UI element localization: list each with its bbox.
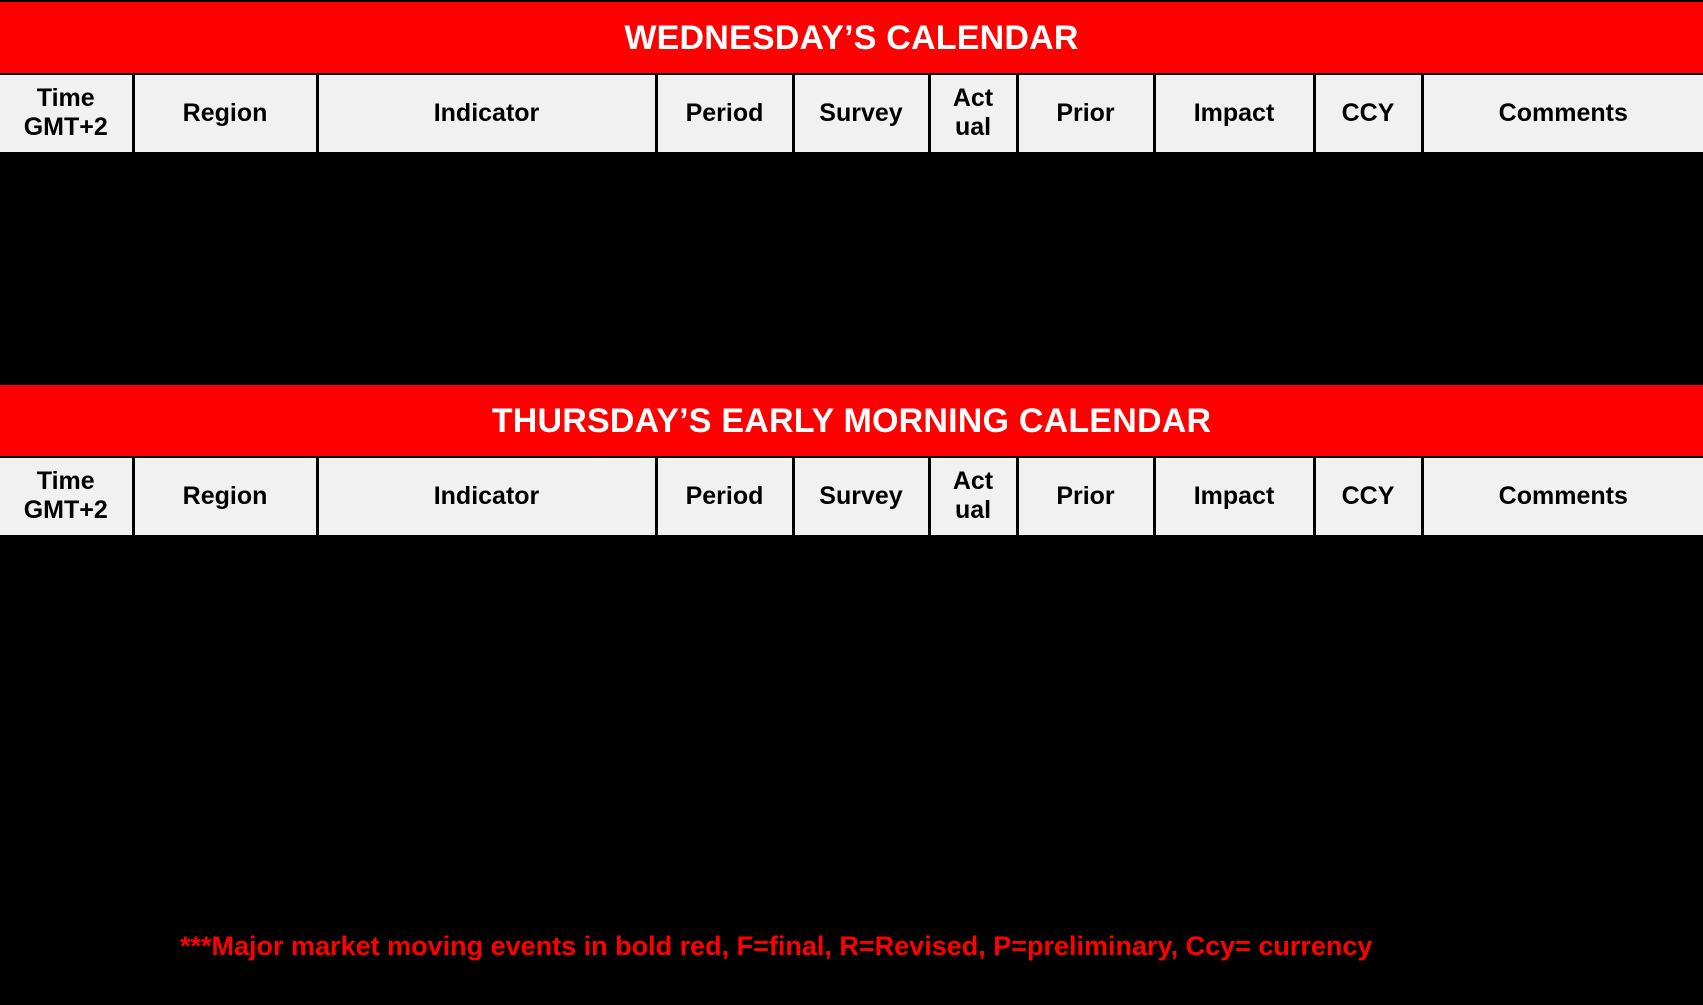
column-header-survey: Survey — [793, 75, 929, 153]
column-header-ccy: CCY — [1314, 75, 1422, 153]
column-header-time-line1: Time — [2, 84, 130, 113]
column-header-survey: Survey — [793, 458, 929, 536]
column-header-time-line2: GMT+2 — [2, 113, 130, 142]
column-header-actual-line1: Act — [933, 84, 1014, 113]
column-header-time-line2: GMT+2 — [2, 496, 130, 525]
column-header-comments: Comments — [1422, 75, 1703, 153]
column-header-prior: Prior — [1017, 458, 1154, 536]
calendar-title-thursday: THURSDAY’S EARLY MORNING CALENDAR — [492, 404, 1211, 438]
column-header-actual: Act ual — [929, 75, 1017, 153]
calendar-page: WEDNESDAY’S CALENDAR Time GMT+2 Region I… — [0, 0, 1703, 1005]
column-header-actual: Act ual — [929, 458, 1017, 536]
calendar-section-thursday: THURSDAY’S EARLY MORNING CALENDAR Time G… — [0, 383, 1703, 538]
column-header-time: Time GMT+2 — [0, 458, 133, 536]
column-header-period: Period — [656, 75, 793, 153]
column-header-actual-line1: Act — [933, 467, 1014, 496]
calendar-title-bar-wednesday: WEDNESDAY’S CALENDAR — [0, 0, 1703, 75]
column-header-impact: Impact — [1154, 75, 1314, 153]
column-header-actual-line2: ual — [933, 113, 1014, 142]
table-header-row: Time GMT+2 Region Indicator Period Surve… — [0, 75, 1703, 153]
column-header-actual-line2: ual — [933, 496, 1014, 525]
column-header-indicator: Indicator — [317, 75, 656, 153]
column-header-ccy: CCY — [1314, 458, 1422, 536]
legend-footnote: ***Major market moving events in bold re… — [180, 932, 1372, 962]
column-header-period: Period — [656, 458, 793, 536]
column-header-time-line1: Time — [2, 467, 130, 496]
column-header-region: Region — [133, 75, 317, 153]
column-header-time: Time GMT+2 — [0, 75, 133, 153]
column-header-comments: Comments — [1422, 458, 1703, 536]
calendar-title-bar-thursday: THURSDAY’S EARLY MORNING CALENDAR — [0, 383, 1703, 458]
calendar-title-wednesday: WEDNESDAY’S CALENDAR — [624, 21, 1078, 55]
column-header-indicator: Indicator — [317, 458, 656, 536]
column-header-prior: Prior — [1017, 75, 1154, 153]
column-header-impact: Impact — [1154, 458, 1314, 536]
calendar-section-wednesday: WEDNESDAY’S CALENDAR Time GMT+2 Region I… — [0, 0, 1703, 155]
column-header-region: Region — [133, 458, 317, 536]
calendar-table-thursday: Time GMT+2 Region Indicator Period Surve… — [0, 458, 1703, 538]
calendar-table-wednesday: Time GMT+2 Region Indicator Period Surve… — [0, 75, 1703, 155]
table-header-row: Time GMT+2 Region Indicator Period Surve… — [0, 458, 1703, 536]
